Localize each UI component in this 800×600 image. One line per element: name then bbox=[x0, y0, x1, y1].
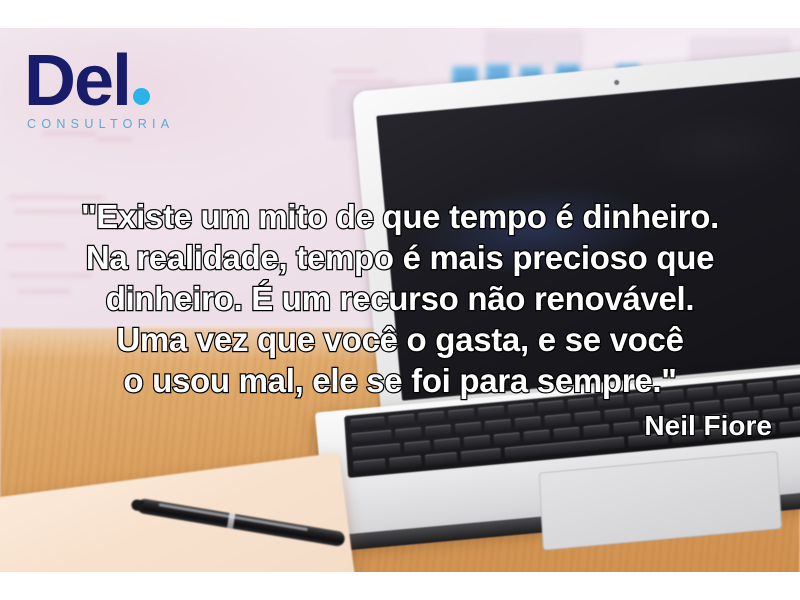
quote-block: "Existe um mito de que tempo é dinheiro.… bbox=[0, 196, 800, 401]
quote-line: Na realidade, tempo é mais precioso que bbox=[0, 237, 800, 278]
slide-canvas: Del CONSULTORIA "Existe um mito de que t… bbox=[0, 0, 800, 600]
whiteboard-scribble bbox=[332, 70, 376, 73]
quote-line: Uma vez que você o gasta, e se você bbox=[0, 319, 800, 360]
quote-line: "Existe um mito de que tempo é dinheiro. bbox=[0, 196, 800, 237]
quote-author: Neil Fiore bbox=[644, 410, 772, 442]
quote-line: dinheiro. É um recurso não renovável. bbox=[0, 278, 800, 319]
logo-word-text: Del bbox=[24, 41, 130, 121]
whiteboard-scribble bbox=[42, 132, 96, 135]
brand-logo: Del CONSULTORIA bbox=[24, 48, 174, 131]
top-white-band bbox=[0, 0, 800, 28]
whiteboard-sketch-box bbox=[486, 32, 582, 66]
bottom-white-band bbox=[0, 572, 800, 600]
logo-tagline: CONSULTORIA bbox=[27, 117, 174, 131]
logo-dot-icon bbox=[133, 88, 150, 105]
quote-line: o usou mal, ele se foi para sempre." bbox=[0, 360, 800, 401]
webcam-icon bbox=[614, 80, 619, 85]
logo-wordmark: Del bbox=[24, 48, 174, 114]
whiteboard-scribble bbox=[96, 138, 132, 141]
whiteboard-scribble bbox=[336, 80, 396, 83]
